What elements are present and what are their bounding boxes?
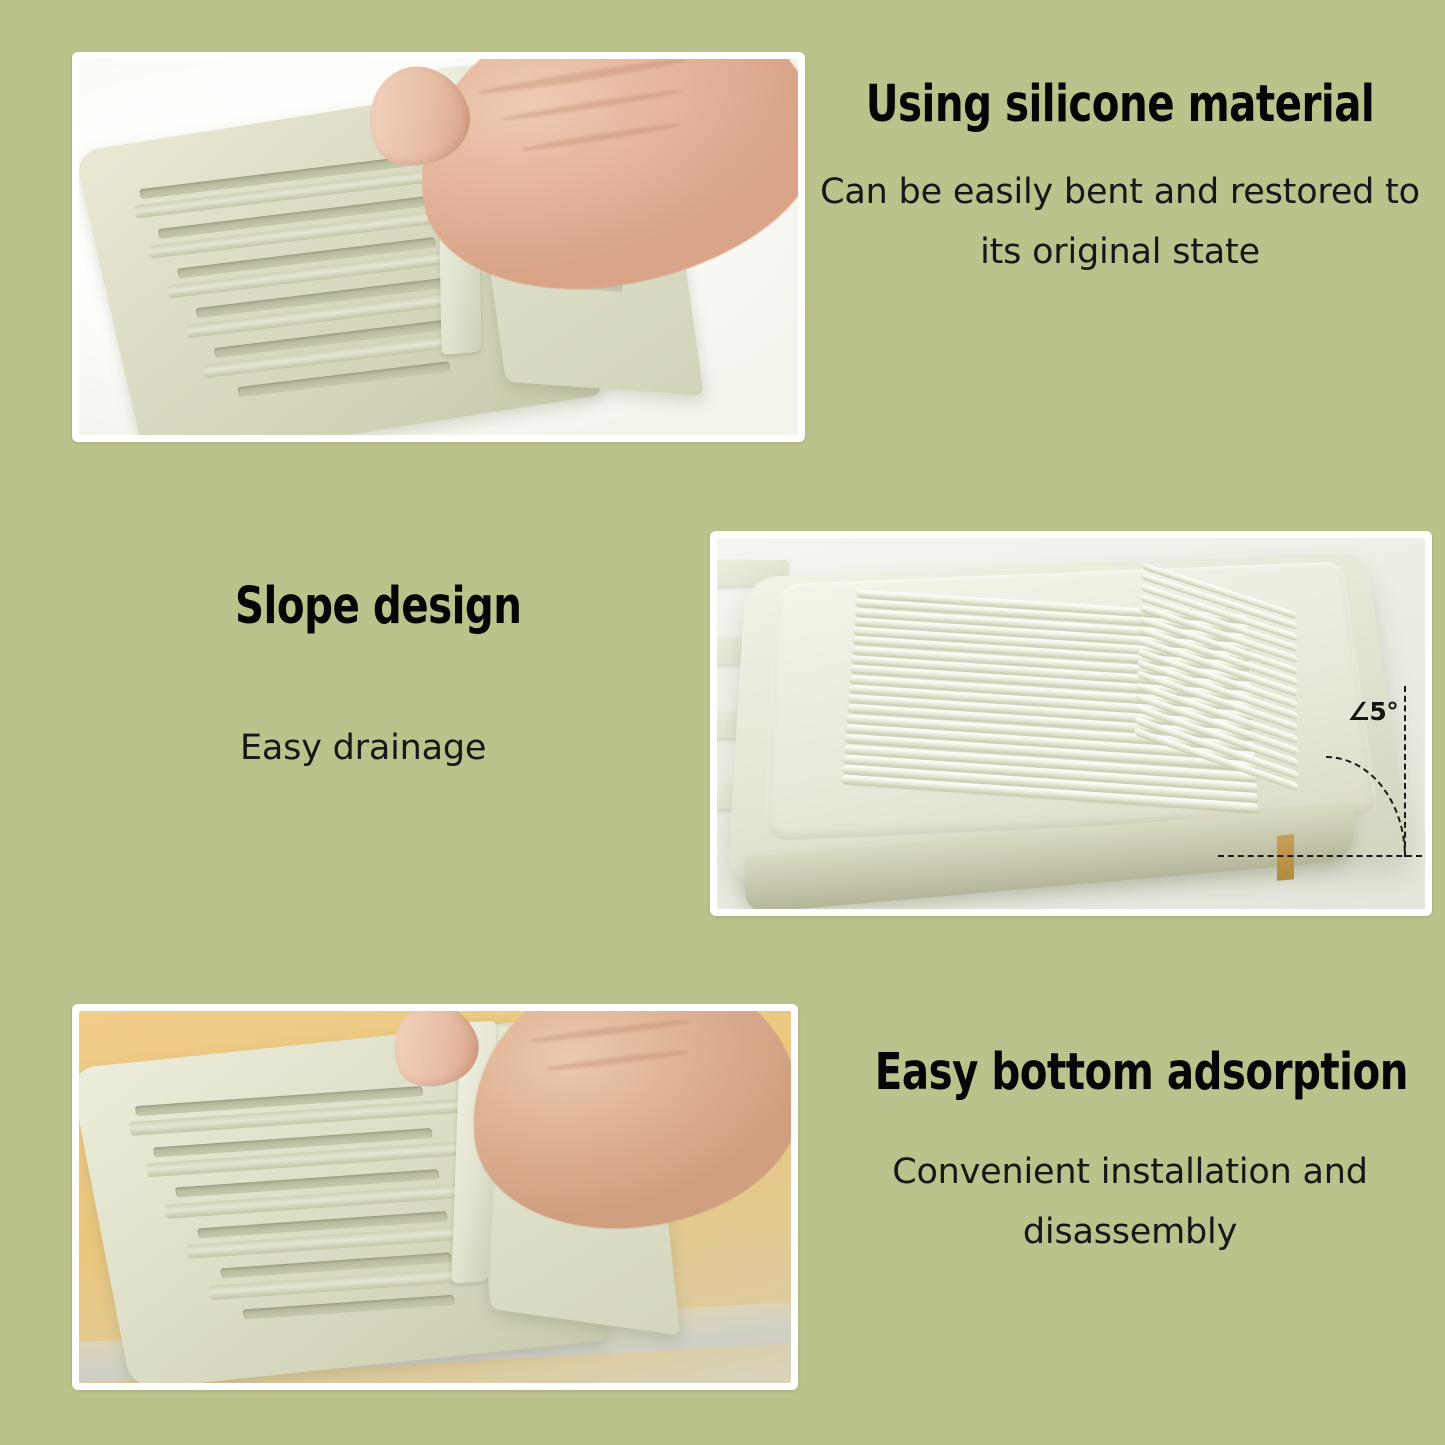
subline-line-2: its original state [800,222,1440,282]
headline-silicone-material: Using silicone material [838,78,1401,132]
headline-bottom-adsorption: Easy bottom adsorption [875,1046,1385,1100]
slope-angle-annotation: ∠5° [1280,686,1415,857]
subline-slope-design: Easy drainage [240,718,700,778]
feature-text-bottom-adsorption: Easy bottom adsorption Convenient instal… [840,1046,1420,1262]
subline-line-1: Can be easily bent and restored to [800,162,1440,222]
hand-holding-tray-on-table-photo [79,1011,791,1383]
angle-label: ∠5° [1347,697,1398,726]
feature-text-slope-design: Slope design Easy drainage [180,580,700,778]
tray-slot [243,1294,455,1318]
sloped-ribbed-tray-photo-frame: ∠5° [710,531,1432,916]
angle-arc [1326,756,1406,857]
hand-bending-tray-photo [79,59,798,435]
knuckle-crease [544,1048,688,1072]
knuckle-crease [528,1017,691,1044]
subline-line-1: Convenient installation and [840,1142,1420,1202]
product-feature-poster: Using silicone material Can be easily be… [0,0,1445,1445]
headline-slope-design: Slope design [235,580,644,634]
hand-bending-tray-photo-frame [72,52,805,442]
feature-text-silicone-material: Using silicone material Can be easily be… [800,78,1440,282]
angle-vertical-guide [1404,686,1406,857]
knuckle-crease [479,59,687,97]
hand-holding-tray-on-table-photo-frame [72,1004,798,1390]
subline-line-2: disassembly [840,1202,1420,1262]
subline-silicone-material: Can be easily bent and restored to its o… [800,162,1440,282]
subline-line-1: Easy drainage [240,718,700,778]
sloped-ribbed-tray-photo: ∠5° [717,538,1425,909]
subline-bottom-adsorption: Convenient installation and disassembly [840,1142,1420,1262]
knuckle-crease [521,122,681,154]
knuckle-crease [499,87,683,123]
